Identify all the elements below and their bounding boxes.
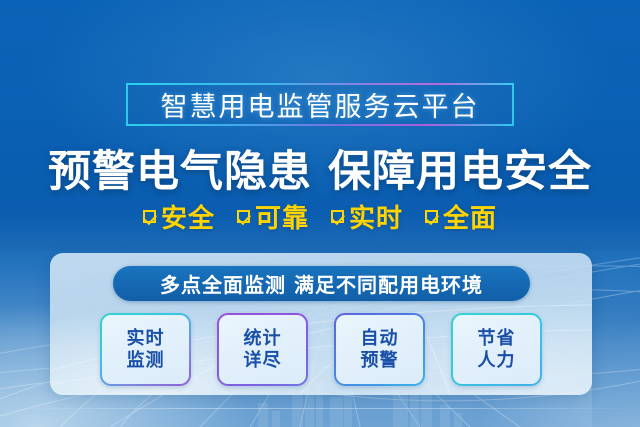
- feature-card-line-1: 统计: [244, 328, 282, 349]
- feature-item-realtime: 实时: [331, 198, 403, 235]
- panel-banner-part-1: 多点全面监测: [160, 273, 286, 297]
- feature-item-reliable: 可靠: [237, 198, 309, 235]
- feature-item-safety: 安全: [143, 198, 215, 235]
- checkbox-checked-icon: [237, 210, 250, 223]
- feature-card-line-2: 人力: [478, 350, 516, 371]
- panel-banner-text: 多点全面监测满足不同配用电环境: [160, 269, 483, 298]
- checkbox-checked-icon: [425, 210, 438, 223]
- feature-label: 可靠: [255, 198, 309, 235]
- panel-banner: 多点全面监测满足不同配用电环境: [113, 266, 530, 301]
- feature-label: 实时: [349, 198, 403, 235]
- feature-card-body: 实时 监测: [102, 315, 189, 384]
- title-chip: 智慧用电监管服务云平台: [126, 83, 514, 126]
- feature-card-body: 自动 预警: [336, 315, 423, 384]
- feature-card-line-2: 监测: [127, 350, 165, 371]
- feature-card-line-1: 节省: [478, 328, 516, 349]
- feature-card-line-1: 实时: [127, 328, 165, 349]
- feature-card-list: 实时 监测 统计 详尽 自动 预警 节省 人力: [100, 313, 542, 386]
- feature-card-detailed-statistics[interactable]: 统计 详尽: [217, 313, 308, 386]
- headline-part-1: 预警电气隐患: [48, 147, 312, 197]
- background-horizon-line: [0, 408, 640, 409]
- feature-panel: 多点全面监测满足不同配用电环境 实时 监测 统计 详尽 自动 预警 节省 人力: [50, 253, 592, 395]
- page-title: 智慧用电监管服务云平台: [161, 85, 480, 124]
- feature-card-line-2: 预警: [361, 350, 399, 371]
- panel-banner-part-2: 满足不同配用电环境: [294, 273, 483, 297]
- feature-card-line-2: 详尽: [244, 350, 282, 371]
- feature-card-realtime-monitoring[interactable]: 实时 监测: [100, 313, 191, 386]
- feature-item-comprehensive: 全面: [425, 198, 497, 235]
- feature-label: 安全: [161, 198, 215, 235]
- headline: 预警电气隐患保障用电安全: [0, 137, 640, 199]
- feature-card-automatic-alarm[interactable]: 自动 预警: [334, 313, 425, 386]
- feature-check-row: 安全 可靠 实时 全面: [0, 198, 640, 235]
- feature-card-line-1: 自动: [361, 328, 399, 349]
- feature-label: 全面: [443, 198, 497, 235]
- feature-card-body: 统计 详尽: [219, 315, 306, 384]
- headline-part-2: 保障用电安全: [328, 147, 592, 197]
- checkbox-checked-icon: [331, 210, 344, 223]
- feature-card-save-manpower[interactable]: 节省 人力: [451, 313, 542, 386]
- checkbox-checked-icon: [143, 210, 156, 223]
- feature-card-body: 节省 人力: [453, 315, 540, 384]
